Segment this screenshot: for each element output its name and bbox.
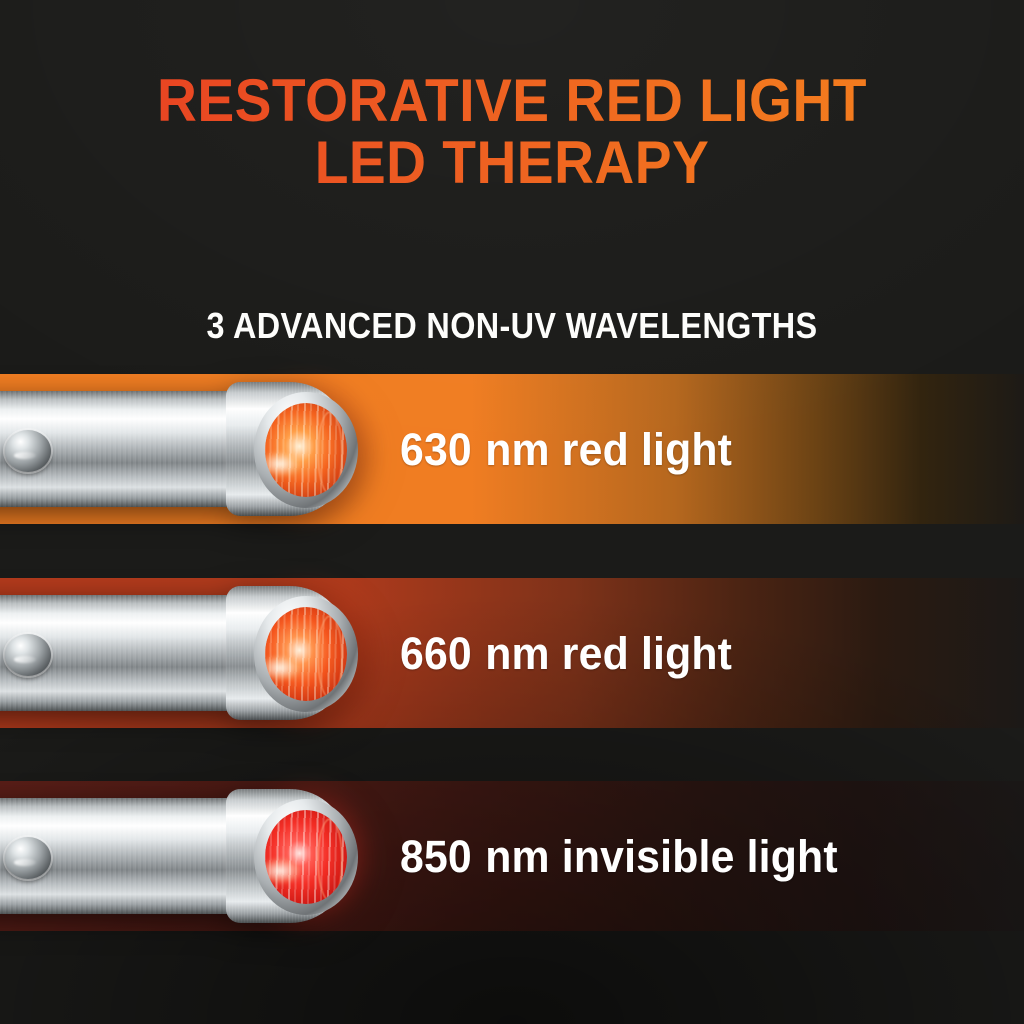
- led-inner-ring: [317, 615, 343, 699]
- led-lens: [265, 810, 347, 904]
- led-inner-ring: [317, 818, 343, 902]
- wavelength-number: 850: [400, 834, 472, 879]
- wavelength-row-660: 660 nm red light: [0, 578, 1024, 728]
- product-infographic: RESTORATIVE RED LIGHT LED THERAPY 3 ADVA…: [0, 0, 1024, 1024]
- page-title: RESTORATIVE RED LIGHT LED THERAPY: [41, 70, 983, 194]
- power-button-icon: [5, 634, 51, 676]
- wavelength-description: nm invisible light: [485, 834, 838, 879]
- flashlight-device-630: [0, 382, 370, 516]
- wavelength-row-850: 850 nm invisible light: [0, 781, 1024, 931]
- wavelength-label-850: 850 nm invisible light: [400, 781, 838, 931]
- power-button-icon: [5, 430, 51, 472]
- wavelength-description: nm red light: [485, 631, 732, 676]
- led-lens: [265, 607, 347, 701]
- subtitle: 3 ADVANCED NON-UV WAVELENGTHS: [51, 305, 973, 347]
- flashlight-device-660: [0, 586, 370, 720]
- wavelength-label-630: 630 nm red light: [400, 374, 732, 524]
- power-button-icon: [5, 837, 51, 879]
- wavelength-number: 630: [400, 427, 472, 472]
- led-lens: [265, 403, 347, 497]
- wavelength-description: nm red light: [485, 427, 732, 472]
- wavelength-row-630: 630 nm red light: [0, 374, 1024, 524]
- flashlight-device-850: [0, 789, 370, 923]
- wavelength-label-660: 660 nm red light: [400, 578, 732, 728]
- wavelength-number: 660: [400, 631, 472, 676]
- led-inner-ring: [317, 411, 343, 495]
